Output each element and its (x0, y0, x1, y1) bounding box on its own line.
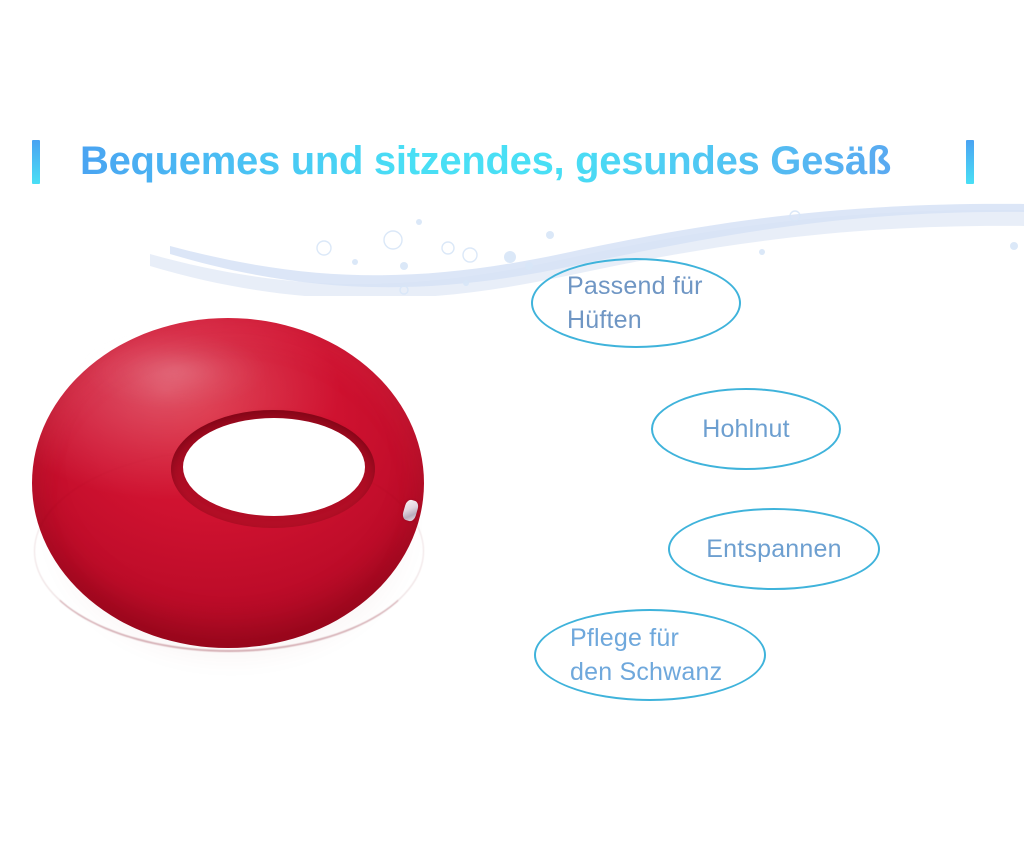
bubble-icon (317, 241, 331, 255)
headline-block: Bequemes und sitzendes, gesundes Gesäß (0, 132, 1024, 194)
cushion-center-hole (183, 418, 365, 516)
bubble-icon (400, 286, 408, 294)
cushion-highlight (80, 334, 270, 408)
page-title: Bequemes und sitzendes, gesundes Gesäß (80, 132, 950, 190)
bubble-icon (525, 262, 533, 270)
bubble-icon (463, 280, 469, 286)
bubble-icon (790, 211, 800, 221)
bubble-icon (1010, 242, 1018, 250)
bubble-icon (400, 262, 408, 270)
bubble-icon (759, 249, 765, 255)
headline-tick-right-icon (966, 140, 974, 184)
bubble-icon (463, 248, 477, 262)
bubble-icon (352, 259, 358, 265)
bubble-icon (384, 231, 402, 249)
decorative-wave (0, 186, 1024, 296)
feature-label: Pflege für den Schwanz (536, 621, 722, 689)
bubble-icon (504, 251, 516, 263)
product-infographic-banner: Bequemes und sitzendes, gesundes Gesäß P… (0, 0, 1024, 845)
feature-label: Entspannen (706, 532, 841, 566)
feature-label: Passend für Hüften (533, 269, 703, 337)
feature-callout-passend-fuer-hueften: Passend für Hüften (531, 258, 741, 348)
feature-label: Hohlnut (702, 412, 790, 446)
feature-callout-hohlnut: Hohlnut (651, 388, 841, 470)
bubble-icon (546, 231, 554, 239)
feature-callout-entspannen: Entspannen (668, 508, 880, 590)
feature-callout-pflege-fuer-den-schwanz: Pflege für den Schwanz (534, 609, 766, 701)
headline-tick-left-icon (32, 140, 40, 184)
product-image-ring-cushion (18, 300, 438, 700)
bubble-icon (442, 242, 454, 254)
bubble-icon (416, 219, 422, 225)
